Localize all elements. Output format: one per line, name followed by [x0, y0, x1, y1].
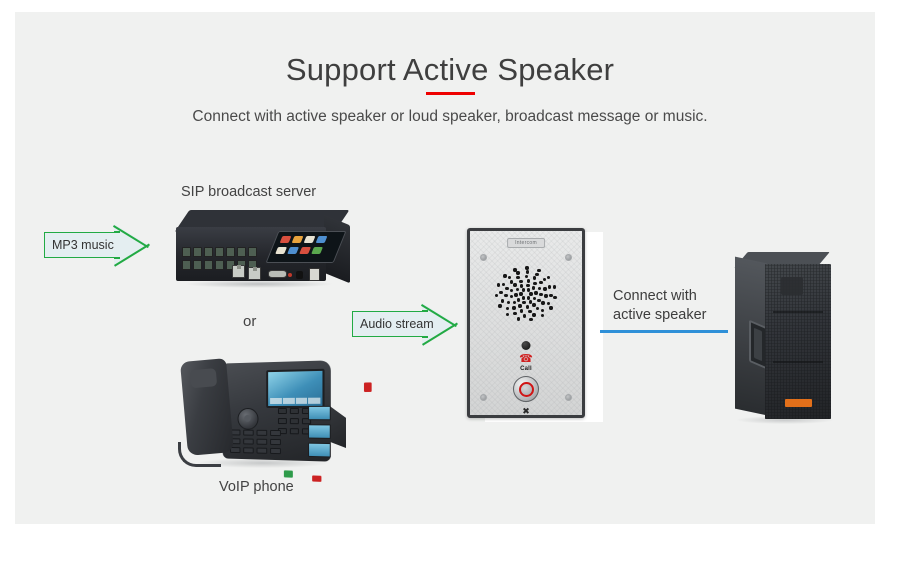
sip-broadcast-server-icon	[176, 210, 354, 294]
phone-body	[223, 360, 331, 461]
intercom-screw-top-left	[480, 254, 487, 261]
intercom-call-button-ring	[519, 382, 534, 397]
intercom-speaker-grille	[490, 263, 562, 325]
intercom-badge: Intercom	[507, 238, 545, 248]
speaker-side-face	[735, 257, 767, 416]
server-vga-port	[268, 270, 287, 278]
intercom-cancel-icon: ✖	[522, 407, 530, 416]
audio-stream-arrow: Audio stream	[352, 303, 456, 345]
server-status-led	[288, 273, 292, 277]
connection-label-line2: active speaker	[613, 306, 707, 325]
phone-dial-keypad	[230, 429, 298, 460]
intercom-call-label: Call	[520, 366, 532, 372]
server-power-switch	[309, 268, 320, 281]
server-audio-jack	[296, 271, 303, 279]
diagram-page: Support Active Speaker Connect with acti…	[0, 0, 900, 561]
server-ethernet-port-2	[248, 267, 261, 280]
phone-hangup-key	[312, 475, 321, 482]
sip-broadcast-server-label: SIP broadcast server	[181, 184, 316, 200]
server-front-face	[176, 227, 326, 281]
server-shadow	[184, 280, 334, 288]
phone-lcd-screen	[266, 369, 324, 408]
speaker-tweeter	[781, 277, 803, 295]
or-separator-label: or	[243, 313, 256, 330]
intercom-screw-top-right	[565, 254, 572, 261]
page-title: Support Active Speaker	[0, 52, 900, 88]
connection-label-line1: Connect with	[613, 287, 707, 306]
phone-speaker-key	[284, 470, 293, 477]
mp3-music-arrow-label: MP3 music	[52, 232, 114, 258]
voip-phone-icon	[176, 338, 354, 472]
intercom-microphone	[522, 341, 531, 350]
connection-line	[600, 330, 728, 333]
voip-phone-label: VoIP phone	[219, 479, 294, 495]
phone-cord	[178, 442, 221, 467]
phone-dss-key-panel	[308, 406, 333, 460]
mp3-music-arrow: MP3 music	[44, 224, 148, 266]
speaker-front-face	[765, 264, 831, 419]
intercom-call-button[interactable]	[513, 376, 539, 402]
intercom-phone-icon: ☎	[519, 354, 533, 365]
connection-label: Connect with active speaker	[613, 287, 707, 325]
page-subtitle: Connect with active speaker or loud spea…	[0, 108, 900, 126]
intercom-door-station-icon: Intercom ☎ Call ✖	[467, 228, 585, 418]
intercom-screw-bottom-right	[565, 394, 572, 401]
speaker-seam-lower	[773, 361, 823, 363]
server-ethernet-port-1	[232, 265, 245, 278]
speaker-brand-badge	[785, 399, 812, 407]
speaker-seam-upper	[773, 311, 823, 313]
active-speaker-cabinet-icon	[727, 252, 837, 422]
intercom-screw-bottom-left	[480, 394, 487, 401]
server-touchscreen	[266, 231, 347, 263]
title-underline-accent	[426, 92, 475, 95]
audio-stream-arrow-label: Audio stream	[360, 311, 434, 337]
phone-navigation-pad	[238, 408, 259, 430]
phone-message-led	[364, 382, 372, 392]
